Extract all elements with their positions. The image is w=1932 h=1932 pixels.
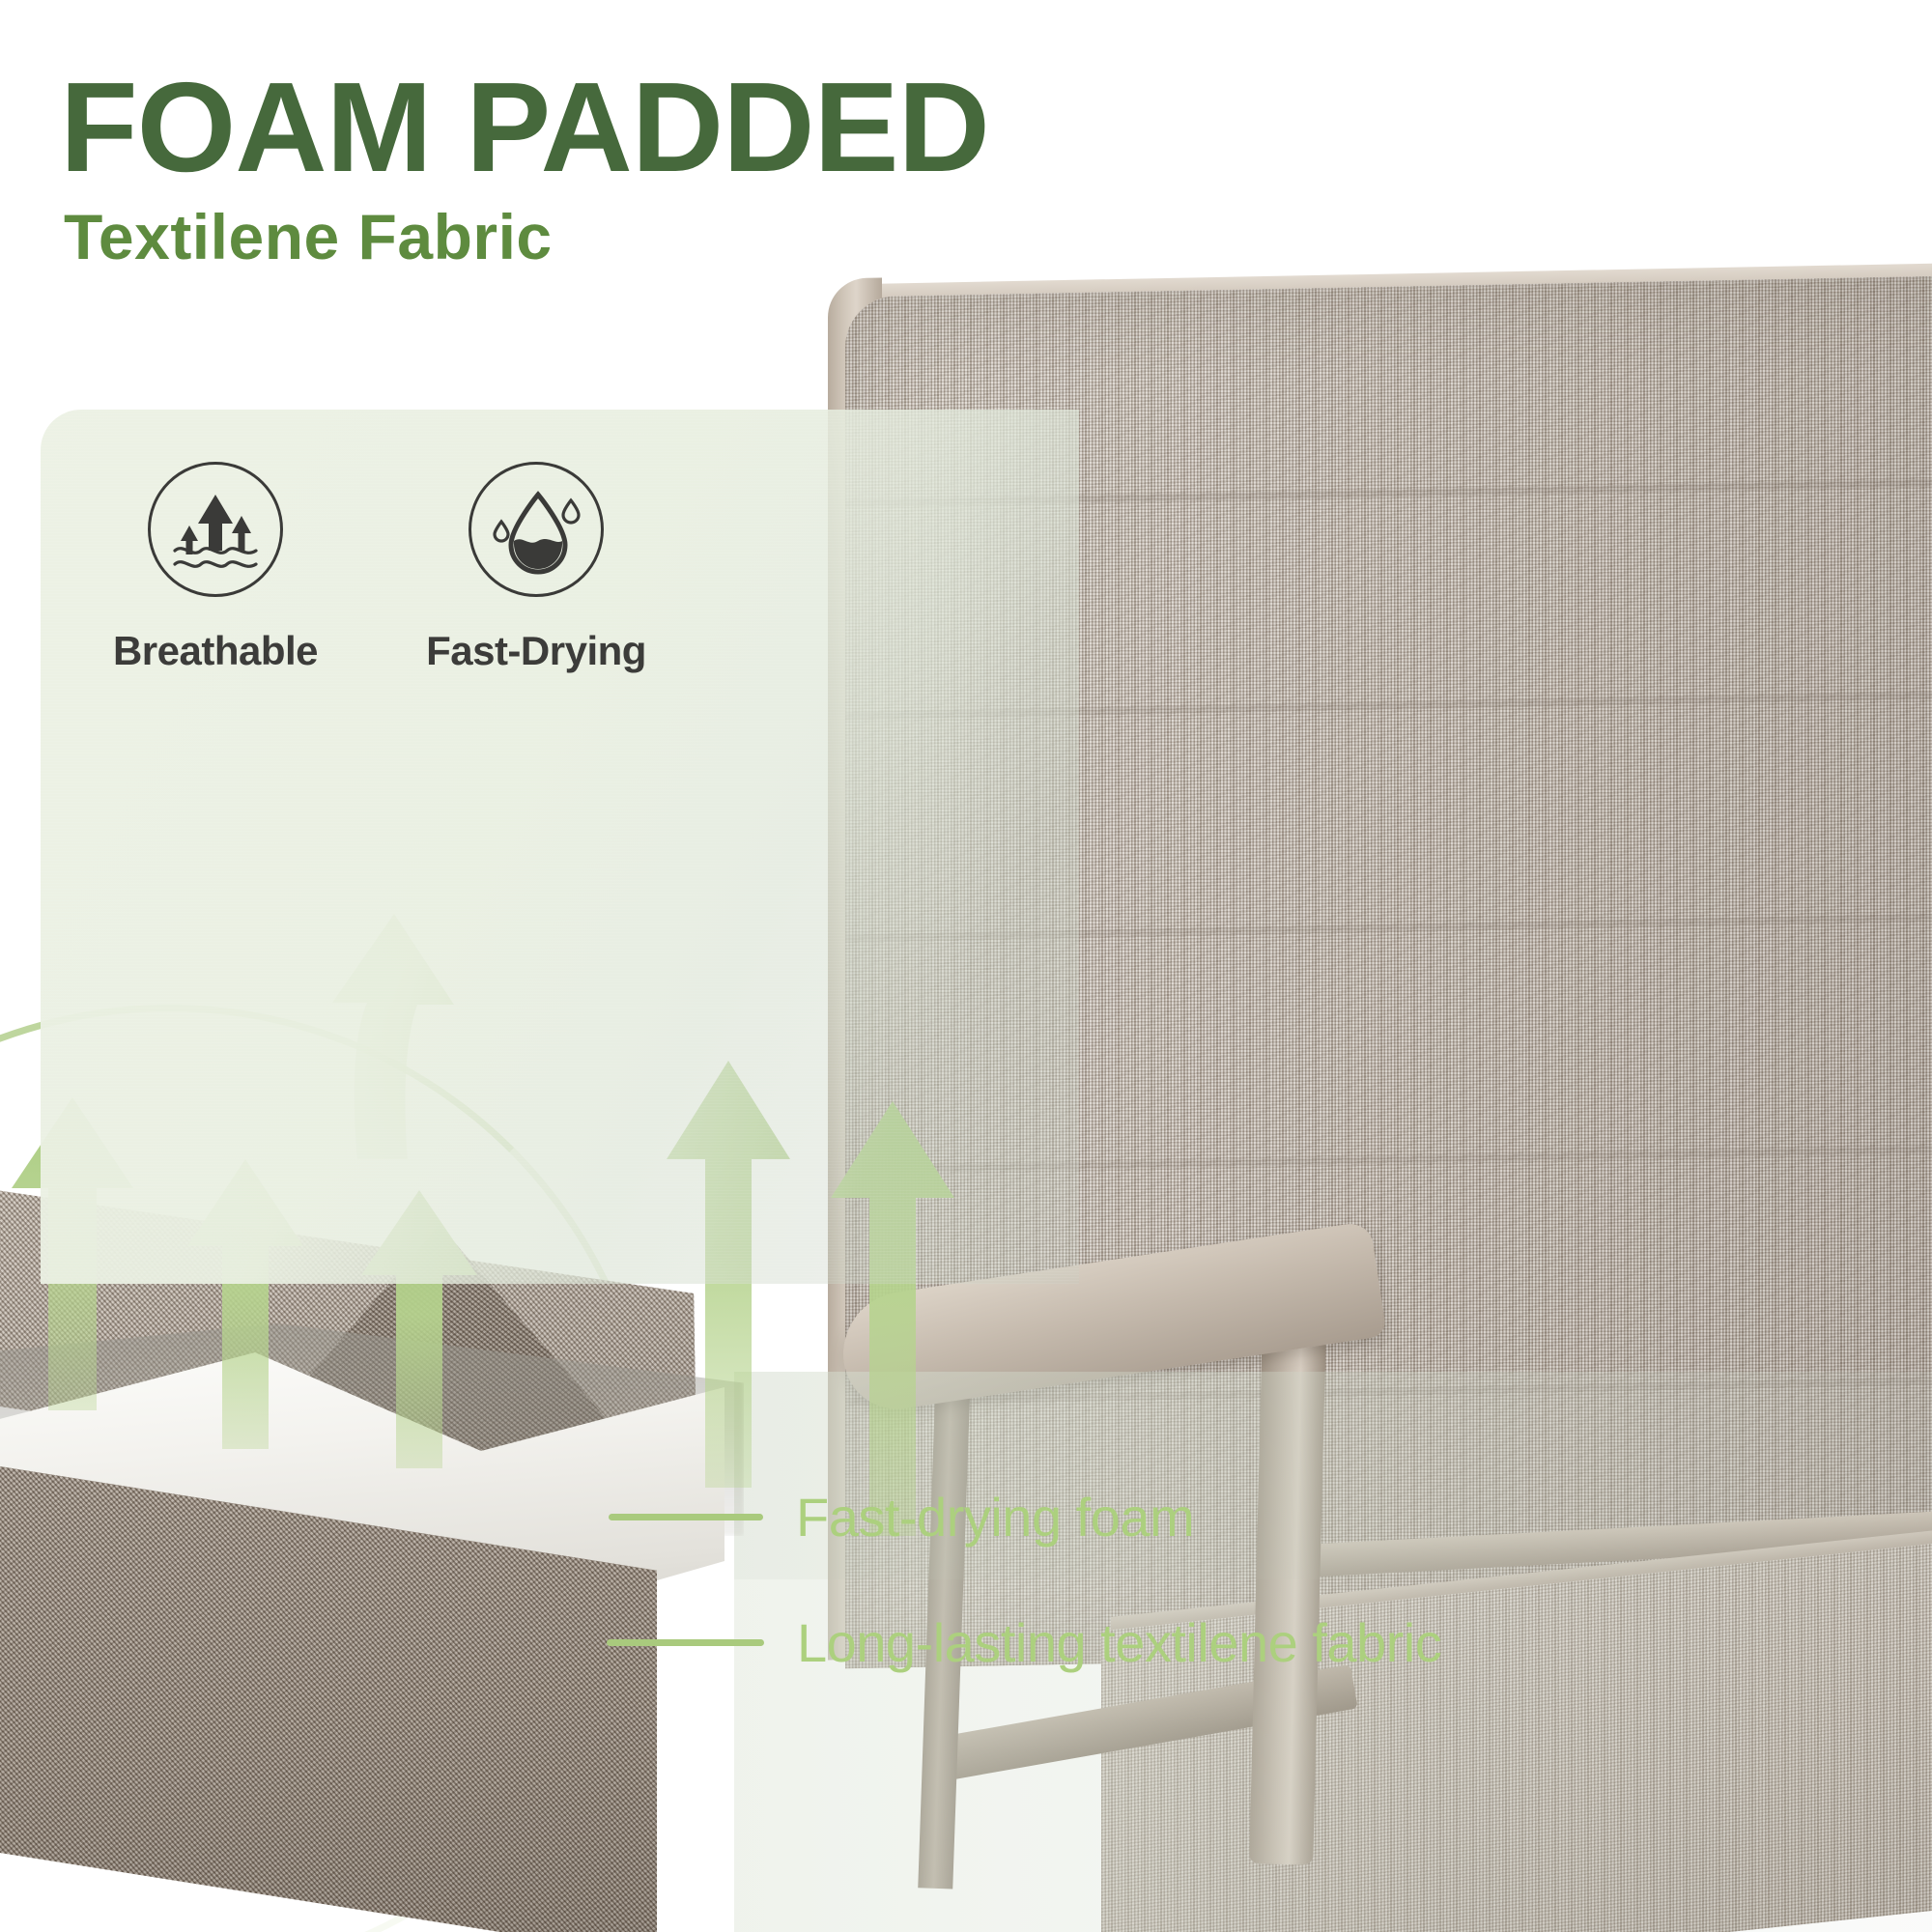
feature-breathable: Breathable bbox=[114, 462, 317, 674]
feature-list: Breathable Fast-Drying bbox=[114, 462, 638, 674]
callout-label-fast-drying-foam: Fast-drying foam bbox=[796, 1486, 1194, 1548]
page-title: FOAM PADDED bbox=[60, 64, 989, 191]
callout-long-lasting-textilene-fabric: Long-lasting textilene fabric bbox=[607, 1611, 1441, 1674]
callout-label-long-lasting-textilene-fabric: Long-lasting textilene fabric bbox=[797, 1611, 1441, 1674]
page-subtitle: Textilene Fabric bbox=[64, 205, 553, 269]
breathable-arrows-waves-icon bbox=[148, 462, 283, 597]
callout-fast-drying-foam: Fast-drying foam bbox=[609, 1486, 1194, 1548]
marketing-graphic: FOAM PADDED Textilene Fabric Breathabl bbox=[0, 0, 1932, 1932]
feature-label-breathable: Breathable bbox=[113, 628, 318, 674]
feature-label-fast-drying: Fast-Drying bbox=[426, 628, 646, 674]
feature-fast-drying: Fast-Drying bbox=[435, 462, 638, 674]
callout-leader-line bbox=[607, 1639, 764, 1646]
callout-leader-line bbox=[609, 1514, 763, 1520]
water-droplet-icon bbox=[469, 462, 604, 597]
